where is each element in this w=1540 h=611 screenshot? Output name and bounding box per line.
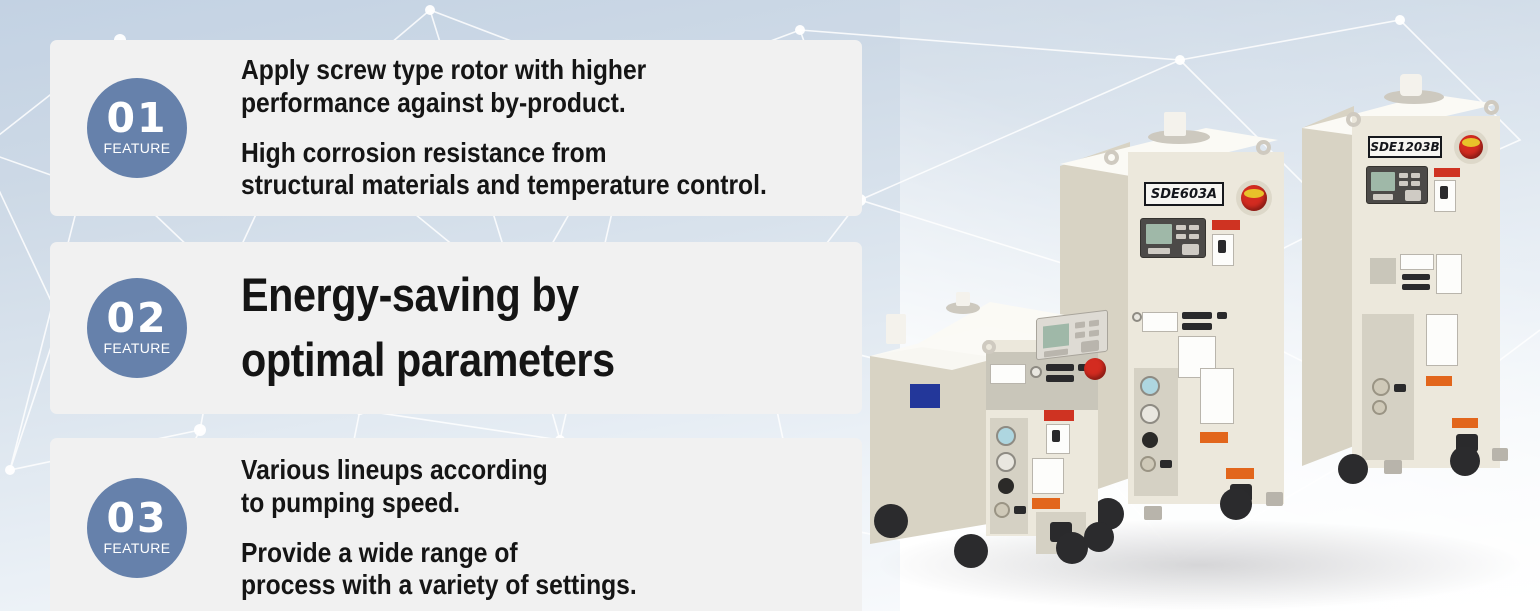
caution-sticker <box>1200 368 1234 424</box>
feature-paragraph: Apply screw type rotor with higher perfo… <box>241 54 839 119</box>
io-connector <box>1046 364 1074 371</box>
gas-port <box>1140 456 1156 472</box>
control-panel[interactable] <box>1036 310 1108 361</box>
feature-line: to pumping speed. <box>241 487 637 519</box>
control-key[interactable] <box>1411 173 1420 178</box>
leveling-foot <box>1144 506 1162 520</box>
control-key[interactable] <box>1189 225 1199 230</box>
control-key[interactable] <box>1075 321 1085 328</box>
warning-sticker <box>1434 168 1460 177</box>
io-connector-small <box>1217 312 1227 319</box>
right-pump: SDE1203B <box>1302 88 1540 498</box>
model-number: SDE1203B <box>1370 141 1439 153</box>
emergency-stop-button[interactable] <box>1084 358 1106 380</box>
inlet-pipe <box>1164 112 1186 136</box>
pressure-gauge <box>996 452 1016 472</box>
estop-yellow-ring <box>1244 189 1264 198</box>
control-lcd <box>1371 172 1395 191</box>
valve-knob[interactable] <box>998 478 1014 494</box>
gas-port <box>994 502 1010 518</box>
spec-sticker <box>1142 312 1178 332</box>
feature-text-02: Energy-saving by optimal parameters <box>241 263 682 393</box>
front-left-pump <box>870 296 1130 576</box>
feature-number: 01 <box>106 100 167 138</box>
paragraph-spacer <box>241 119 839 137</box>
control-lcd <box>1043 323 1069 348</box>
exhaust-pipe <box>886 314 906 344</box>
purge-fitting <box>1394 384 1406 392</box>
control-keypad[interactable] <box>1373 194 1393 200</box>
brand-label <box>910 384 940 408</box>
feature-badge-03: 03 FEATURE <box>87 478 187 578</box>
control-panel[interactable] <box>1366 166 1428 204</box>
paragraph-spacer <box>241 519 691 537</box>
estop-yellow-ring <box>1462 138 1480 147</box>
feature-line: Energy-saving by <box>241 263 615 328</box>
feature-card-list: 01 FEATURE Apply screw type rotor with h… <box>50 0 862 611</box>
lifting-eye <box>1346 112 1361 127</box>
feature-line: High corrosion resistance from <box>241 137 767 169</box>
control-arrow-pad[interactable] <box>1405 190 1421 201</box>
io-connector <box>1402 274 1430 280</box>
breaker-switch <box>1052 430 1060 442</box>
control-panel[interactable] <box>1140 218 1206 258</box>
caster-wheel <box>954 534 988 568</box>
model-nameplate: SDE1203B <box>1368 136 1442 158</box>
feature-label: FEATURE <box>103 540 170 556</box>
io-connector <box>1046 375 1074 382</box>
purge-fitting <box>1160 460 1172 468</box>
gas-port <box>1372 400 1387 415</box>
control-key[interactable] <box>1089 320 1099 327</box>
feature-badge-01: 01 FEATURE <box>87 78 187 178</box>
lifting-eye <box>1256 140 1271 155</box>
caster-wheel <box>1450 446 1480 476</box>
feature-line: Various lineups according <box>241 454 637 486</box>
control-key[interactable] <box>1176 234 1186 239</box>
control-keypad[interactable] <box>1044 348 1068 357</box>
breaker-switch <box>1218 240 1226 253</box>
pressure-indicator <box>1030 366 1042 378</box>
leveling-foot <box>1266 492 1283 506</box>
breaker-switch <box>1440 186 1448 199</box>
feature-line: process with a variety of settings. <box>241 569 637 601</box>
control-key[interactable] <box>1189 234 1199 239</box>
io-connector <box>1182 323 1212 330</box>
caution-sticker <box>1426 314 1458 366</box>
caster-wheel <box>1338 454 1368 484</box>
feature-paragraph: Energy-saving by optimal parameters <box>241 263 666 393</box>
connector-panel <box>1370 258 1396 284</box>
model-nameplate: SDE603A <box>1144 182 1224 206</box>
caster-wheel <box>874 504 908 538</box>
warning-sticker-orange <box>1032 498 1060 509</box>
leveling-foot <box>1492 448 1508 461</box>
gas-port <box>1372 378 1390 396</box>
io-connector <box>1182 312 1212 319</box>
leveling-foot <box>1384 460 1402 474</box>
inlet-pipe <box>1400 74 1422 96</box>
lifting-eye <box>1104 150 1119 165</box>
warning-sticker <box>1212 220 1240 230</box>
control-key[interactable] <box>1411 181 1420 186</box>
control-key[interactable] <box>1399 181 1408 186</box>
feature-line: Provide a wide range of <box>241 537 637 569</box>
feature-paragraph: Various lineups according to pumping spe… <box>241 454 691 519</box>
warning-sticker-orange <box>1426 376 1452 386</box>
model-number: SDE603A <box>1151 188 1217 201</box>
feature-line: optimal parameters <box>241 328 615 393</box>
lifting-eye <box>982 340 996 354</box>
control-key[interactable] <box>1399 173 1408 178</box>
caster-wheel <box>1084 522 1114 552</box>
warning-sticker-orange <box>1226 468 1254 479</box>
valve-knob[interactable] <box>1142 432 1158 448</box>
feature-label: FEATURE <box>103 340 170 356</box>
spec-sticker <box>1400 254 1434 270</box>
lifting-eye <box>1484 100 1499 115</box>
product-photo: SDE1203B <box>860 0 1540 611</box>
feature-number: 03 <box>106 500 167 538</box>
feature-card-01: 01 FEATURE Apply screw type rotor with h… <box>50 40 862 216</box>
spec-sticker <box>990 364 1026 384</box>
control-arrow-pad[interactable] <box>1081 340 1099 353</box>
feature-badge-02: 02 FEATURE <box>87 278 187 378</box>
caution-sticker <box>1032 458 1064 494</box>
warning-sticker-orange <box>1452 418 1478 428</box>
pressure-indicator <box>1132 312 1142 322</box>
purge-fitting <box>1014 506 1026 514</box>
control-key[interactable] <box>1089 330 1099 337</box>
feature-paragraph: Provide a wide range of process with a v… <box>241 537 691 602</box>
inlet-pipe <box>956 292 970 306</box>
feature-line: structural materials and temperature con… <box>241 169 767 201</box>
pressure-gauge <box>1140 404 1160 424</box>
warning-sticker-orange <box>1200 432 1228 443</box>
label-sticker <box>1436 254 1462 294</box>
io-connector <box>1402 284 1430 290</box>
feature-label: FEATURE <box>103 140 170 156</box>
feature-number: 02 <box>106 300 167 338</box>
caster-wheel <box>1220 488 1252 520</box>
control-lcd <box>1146 224 1172 244</box>
feature-line: performance against by-product. <box>241 87 767 119</box>
feature-paragraph: High corrosion resistance from structura… <box>241 137 839 202</box>
vacuum-gauge <box>1140 376 1160 396</box>
feature-card-02: 02 FEATURE Energy-saving by optimal para… <box>50 242 862 414</box>
feature-line: Apply screw type rotor with higher <box>241 54 767 86</box>
control-keypad[interactable] <box>1148 248 1170 254</box>
control-key[interactable] <box>1075 331 1085 338</box>
feature-text-03: Various lineups according to pumping spe… <box>241 454 707 602</box>
control-key[interactable] <box>1176 225 1186 230</box>
vacuum-gauge <box>996 426 1016 446</box>
feature-text-01: Apply screw type rotor with higher perfo… <box>241 54 855 202</box>
feature-card-03: 03 FEATURE Various lineups according to … <box>50 438 862 611</box>
warning-sticker <box>1044 410 1074 421</box>
control-arrow-pad[interactable] <box>1182 244 1199 255</box>
